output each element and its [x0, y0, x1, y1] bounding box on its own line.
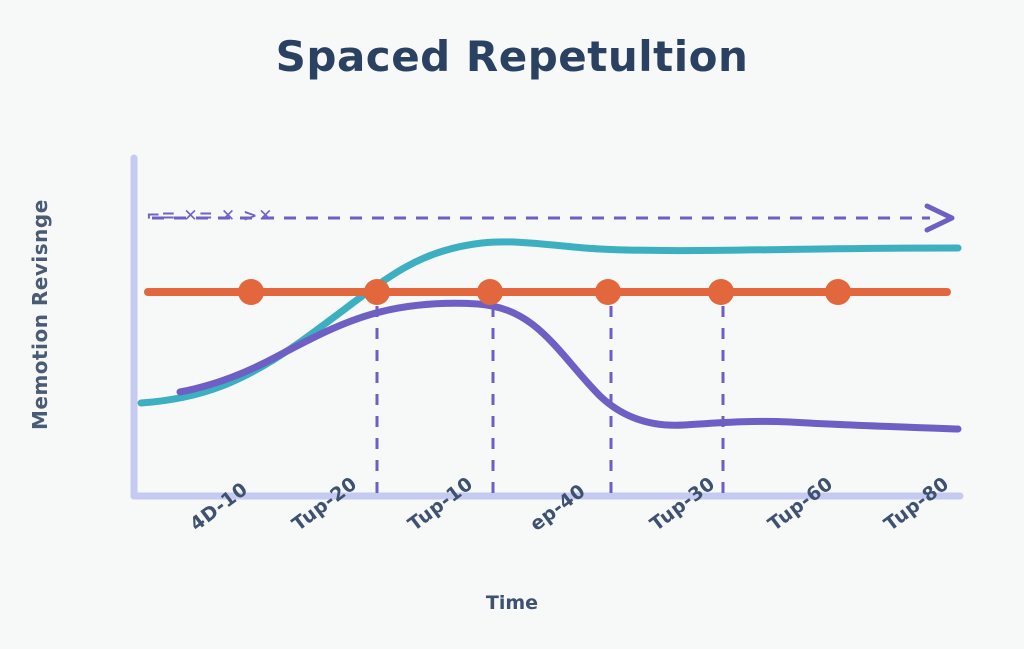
dashed-arrow-annotation: ⌐= ✕= ✕ >✕: [146, 206, 273, 226]
series-line-retention-teal: [141, 242, 958, 403]
plot-area: [0, 0, 1024, 649]
chart-canvas: Spaced Repetultion Memotion Revisnge Tim…: [0, 0, 1024, 649]
series-line-forgetting-purple: [180, 303, 958, 429]
vertical-dashed-lines: [377, 306, 723, 494]
